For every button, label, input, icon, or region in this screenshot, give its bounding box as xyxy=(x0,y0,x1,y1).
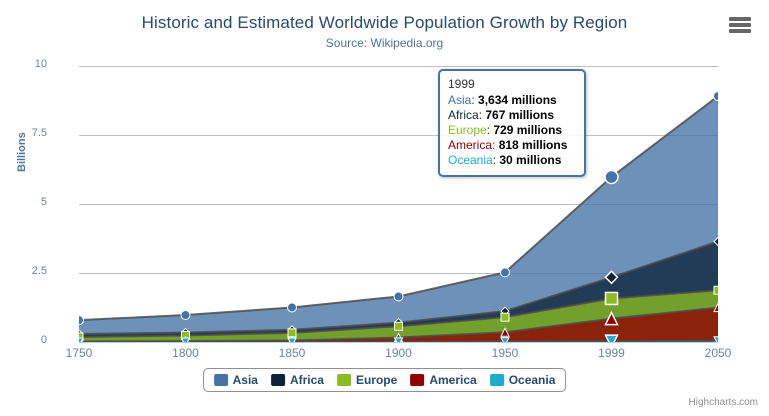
legend-item-africa[interactable]: Africa xyxy=(271,373,324,387)
tooltip-value: 767 millions xyxy=(485,108,554,122)
x-axis-tick-label: 1900 xyxy=(369,346,429,360)
x-axis-tick-label: 2050 xyxy=(688,346,748,360)
data-point-marker[interactable] xyxy=(501,268,510,277)
tooltip-header: 1999 xyxy=(448,77,576,91)
tooltip-row: Africa: 767 millions xyxy=(448,108,576,123)
tooltip-value: 729 millions xyxy=(493,123,562,137)
tooltip-series-name: America xyxy=(448,138,492,152)
data-point-marker[interactable] xyxy=(395,322,403,330)
legend-label: Oceania xyxy=(509,373,556,387)
tooltip-value: 30 millions xyxy=(499,153,561,167)
data-point-marker[interactable] xyxy=(606,292,618,304)
tooltip-series-name: Africa xyxy=(448,108,479,122)
legend-label: Asia xyxy=(233,373,258,387)
y-axis-tick-label: 0 xyxy=(7,334,47,346)
y-axis-tick-label: 2.5 xyxy=(7,265,47,277)
legend-item-europe[interactable]: Europe xyxy=(337,373,397,387)
chart-legend[interactable]: AsiaAfricaEuropeAmericaOceania xyxy=(203,368,567,392)
menu-bar-1 xyxy=(729,17,751,21)
highcharts-container: Historic and Estimated Worldwide Populat… xyxy=(0,0,769,416)
x-axis-tick-label: 1999 xyxy=(582,346,642,360)
y-axis-tick-label: 5 xyxy=(7,196,47,208)
data-point-marker[interactable] xyxy=(605,171,618,184)
legend-swatch-icon xyxy=(337,374,351,386)
data-point-marker[interactable] xyxy=(181,311,190,320)
data-point-marker[interactable] xyxy=(501,313,509,321)
tooltip-row: Oceania: 30 millions xyxy=(448,153,576,168)
legend-swatch-icon xyxy=(214,374,228,386)
tooltip: 1999 Asia: 3,634 millionsAfrica: 767 mil… xyxy=(438,69,586,177)
tooltip-value: 3,634 millions xyxy=(478,93,557,107)
data-point-marker[interactable] xyxy=(394,292,403,301)
x-axis-tick-label: 1750 xyxy=(49,346,109,360)
chart-title: Historic and Estimated Worldwide Populat… xyxy=(0,13,769,33)
legend-item-oceania[interactable]: Oceania xyxy=(490,373,556,387)
tooltip-separator: : xyxy=(492,138,499,152)
tooltip-value: 818 millions xyxy=(499,138,568,152)
menu-bar-3 xyxy=(729,29,751,33)
legend-swatch-icon xyxy=(490,374,504,386)
credits-label: Highcharts.com xyxy=(689,397,758,408)
data-point-marker[interactable] xyxy=(714,286,718,294)
tooltip-series-name: Asia xyxy=(448,93,471,107)
tooltip-row: America: 818 millions xyxy=(448,138,576,153)
legend-label: Africa xyxy=(290,373,324,387)
legend-item-asia[interactable]: Asia xyxy=(214,373,258,387)
menu-bar-2 xyxy=(729,23,751,27)
legend-label: Europe xyxy=(356,373,397,387)
y-axis-tick-label: 7.5 xyxy=(7,127,47,139)
data-point-marker[interactable] xyxy=(288,303,297,312)
tooltip-series-name: Europe xyxy=(448,123,487,137)
chart-subtitle: Source: Wikipedia.org xyxy=(0,36,769,50)
series-layer xyxy=(79,66,718,342)
tooltip-row: Asia: 3,634 millions xyxy=(448,93,576,108)
y-axis-tick-label: 10 xyxy=(7,58,47,70)
tooltip-series-name: Oceania xyxy=(448,153,493,167)
data-point-marker[interactable] xyxy=(714,92,719,101)
data-point-marker[interactable] xyxy=(182,338,190,342)
tooltip-row: Europe: 729 millions xyxy=(448,123,576,138)
hamburger-menu-icon[interactable] xyxy=(729,16,751,34)
tooltip-rows: Asia: 3,634 millionsAfrica: 767 millions… xyxy=(448,93,576,168)
plot-area xyxy=(79,66,718,342)
legend-label: America xyxy=(429,373,476,387)
legend-swatch-icon xyxy=(410,374,424,386)
data-point-marker[interactable] xyxy=(79,316,84,325)
tooltip-separator: : xyxy=(471,93,478,107)
data-point-marker[interactable] xyxy=(288,338,296,342)
x-axis-tick-label: 1950 xyxy=(475,346,535,360)
x-axis-tick-label: 1800 xyxy=(156,346,216,360)
legend-swatch-icon xyxy=(271,374,285,386)
gridline xyxy=(79,342,718,343)
legend-item-america[interactable]: America xyxy=(410,373,476,387)
x-axis-tick-label: 1850 xyxy=(262,346,322,360)
